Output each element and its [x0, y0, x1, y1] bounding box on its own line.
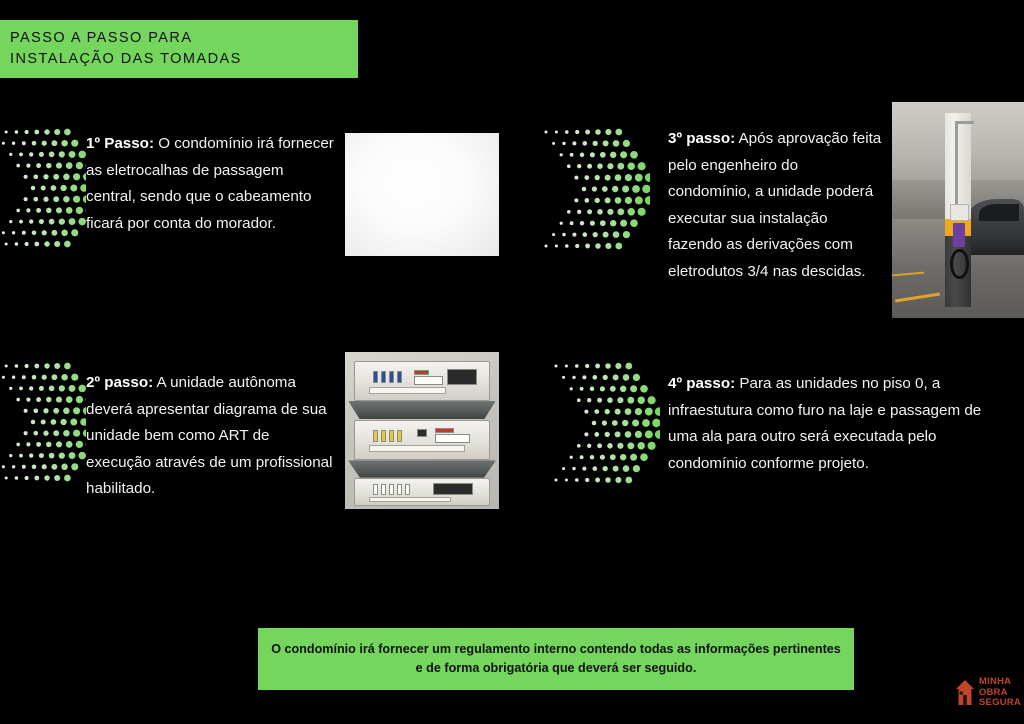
step-3-label: 3º passo:: [668, 130, 735, 147]
chevron-right-dots-2-icon: [0, 358, 86, 492]
chevron-right-dots-4-icon: [548, 358, 660, 494]
step-2-body: A unidade autônoma deverá apresentar dia…: [86, 374, 333, 497]
brand-logo: MINHA OBRA SEGURA: [955, 669, 1021, 715]
step-4-text: 4º passo: Para as unidades no piso 0, a …: [668, 371, 986, 477]
chevron-right-dots-3-icon: [538, 124, 650, 260]
garage-charger-photo: [892, 102, 1024, 318]
bottom-note-banner: O condomínio irá fornecer um regulamento…: [258, 628, 854, 690]
step-4-block: 4º passo: Para as unidades no piso 0, a …: [668, 371, 986, 477]
electrical-panel-photo: [345, 352, 499, 509]
title-banner: PASSO A PASSO PARA INSTALAÇÃO DAS TOMADA…: [0, 20, 358, 78]
brand-logo-text: MINHA OBRA SEGURA: [979, 676, 1021, 708]
chevron-right-dots-1-icon: [0, 124, 86, 258]
bottom-note-text: O condomínio irá fornecer um regulamento…: [270, 640, 842, 679]
step-1-label: 1º Passo:: [86, 135, 154, 152]
step-3-body: Após aprovação feita pelo engenheiro do …: [668, 130, 881, 280]
step-1-text: 1º Passo: O condomínio irá fornecer as e…: [86, 131, 334, 237]
page-title-line-2: INSTALAÇÃO DAS TOMADAS: [10, 49, 358, 70]
step-1-block: 1º Passo: O condomínio irá fornecer as e…: [86, 131, 334, 237]
page-title-line-1: PASSO A PASSO PARA: [10, 28, 358, 49]
step-2-block: 2º passo: A unidade autônoma deverá apre…: [86, 370, 338, 503]
step-3-text: 3º passo: Após aprovação feita pelo enge…: [668, 126, 883, 285]
slide-canvas: PASSO A PASSO PARA INSTALAÇÃO DAS TOMADA…: [0, 0, 1024, 724]
house-icon: [955, 678, 975, 706]
step-3-block: 3º passo: Após aprovação feita pelo enge…: [668, 126, 883, 285]
step-4-label: 4º passo:: [668, 375, 735, 392]
brand-logo-line-3: SEGURA: [979, 697, 1021, 708]
step-2-text: 2º passo: A unidade autônoma deverá apre…: [86, 370, 338, 503]
step-2-label: 2º passo:: [86, 374, 153, 391]
cable-tray-photo: [345, 133, 499, 256]
